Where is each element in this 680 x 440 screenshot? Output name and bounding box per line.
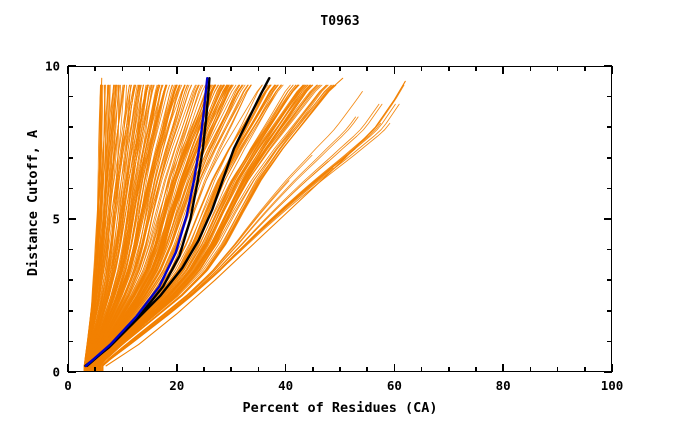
x-tick-mark <box>366 66 368 71</box>
orange-prediction-curves <box>84 78 405 372</box>
x-tick-label: 80 <box>496 378 511 393</box>
y-tick-mark <box>607 157 612 159</box>
x-tick-mark <box>421 367 423 372</box>
x-tick-mark <box>203 367 205 372</box>
x-tick-mark <box>258 66 260 71</box>
y-tick-mark <box>68 371 76 373</box>
y-tick-label: 0 <box>34 365 60 380</box>
y-tick-mark <box>68 96 73 98</box>
x-tick-mark <box>149 367 151 372</box>
x-tick-mark <box>122 367 124 372</box>
x-tick-mark <box>502 364 504 372</box>
x-axis-label: Percent of Residues (CA) <box>68 400 612 416</box>
y-tick-mark <box>607 249 612 251</box>
x-tick-mark <box>502 66 504 74</box>
x-tick-mark <box>94 367 96 372</box>
y-tick-mark <box>68 65 76 67</box>
x-tick-mark <box>339 66 341 71</box>
chart-page: T0963 0204060801000510 Percent of Residu… <box>0 0 680 440</box>
y-tick-mark <box>68 310 73 312</box>
y-tick-mark <box>68 126 73 128</box>
y-tick-mark <box>607 310 612 312</box>
x-tick-mark <box>230 66 232 71</box>
chart-title: T0963 <box>0 14 680 29</box>
y-tick-mark <box>607 96 612 98</box>
x-tick-mark <box>394 364 396 372</box>
x-tick-label: 20 <box>169 378 184 393</box>
y-tick-mark <box>68 279 73 281</box>
x-tick-mark <box>421 66 423 71</box>
x-tick-mark <box>258 367 260 372</box>
y-tick-mark <box>68 157 73 159</box>
curves-plot <box>68 66 612 372</box>
x-tick-mark <box>611 66 613 74</box>
x-tick-mark <box>122 66 124 71</box>
x-tick-mark <box>584 367 586 372</box>
y-tick-mark <box>607 126 612 128</box>
x-tick-mark <box>312 66 314 71</box>
y-tick-mark <box>68 249 73 251</box>
y-axis-label: Distance Cutoff, A <box>25 88 41 318</box>
y-tick-mark <box>604 371 612 373</box>
x-tick-mark <box>557 367 559 372</box>
x-tick-mark <box>339 367 341 372</box>
x-tick-label: 40 <box>278 378 293 393</box>
x-tick-mark <box>94 66 96 71</box>
x-tick-mark <box>176 364 178 372</box>
x-tick-mark <box>203 66 205 71</box>
x-tick-mark <box>176 66 178 74</box>
x-tick-label: 100 <box>601 378 624 393</box>
x-tick-mark <box>448 367 450 372</box>
x-tick-mark <box>530 367 532 372</box>
x-tick-mark <box>475 66 477 71</box>
y-tick-mark <box>68 341 73 343</box>
y-tick-mark <box>604 65 612 67</box>
y-tick-mark <box>607 188 612 190</box>
x-tick-mark <box>230 367 232 372</box>
x-tick-mark <box>67 66 69 74</box>
x-tick-mark <box>149 66 151 71</box>
y-tick-label: 10 <box>34 59 60 74</box>
y-tick-mark <box>604 218 612 220</box>
x-tick-label: 0 <box>64 378 72 393</box>
x-tick-mark <box>285 364 287 372</box>
y-tick-mark <box>607 279 612 281</box>
x-tick-mark <box>557 66 559 71</box>
x-tick-mark <box>448 66 450 71</box>
x-tick-mark <box>475 367 477 372</box>
y-tick-mark <box>68 218 76 220</box>
y-tick-mark <box>68 188 73 190</box>
x-tick-mark <box>530 66 532 71</box>
x-tick-label: 60 <box>387 378 402 393</box>
x-tick-mark <box>285 66 287 74</box>
plot-area <box>68 66 612 372</box>
y-tick-mark <box>607 341 612 343</box>
x-tick-mark <box>366 367 368 372</box>
x-tick-mark <box>394 66 396 74</box>
x-tick-mark <box>312 367 314 372</box>
x-tick-mark <box>584 66 586 71</box>
